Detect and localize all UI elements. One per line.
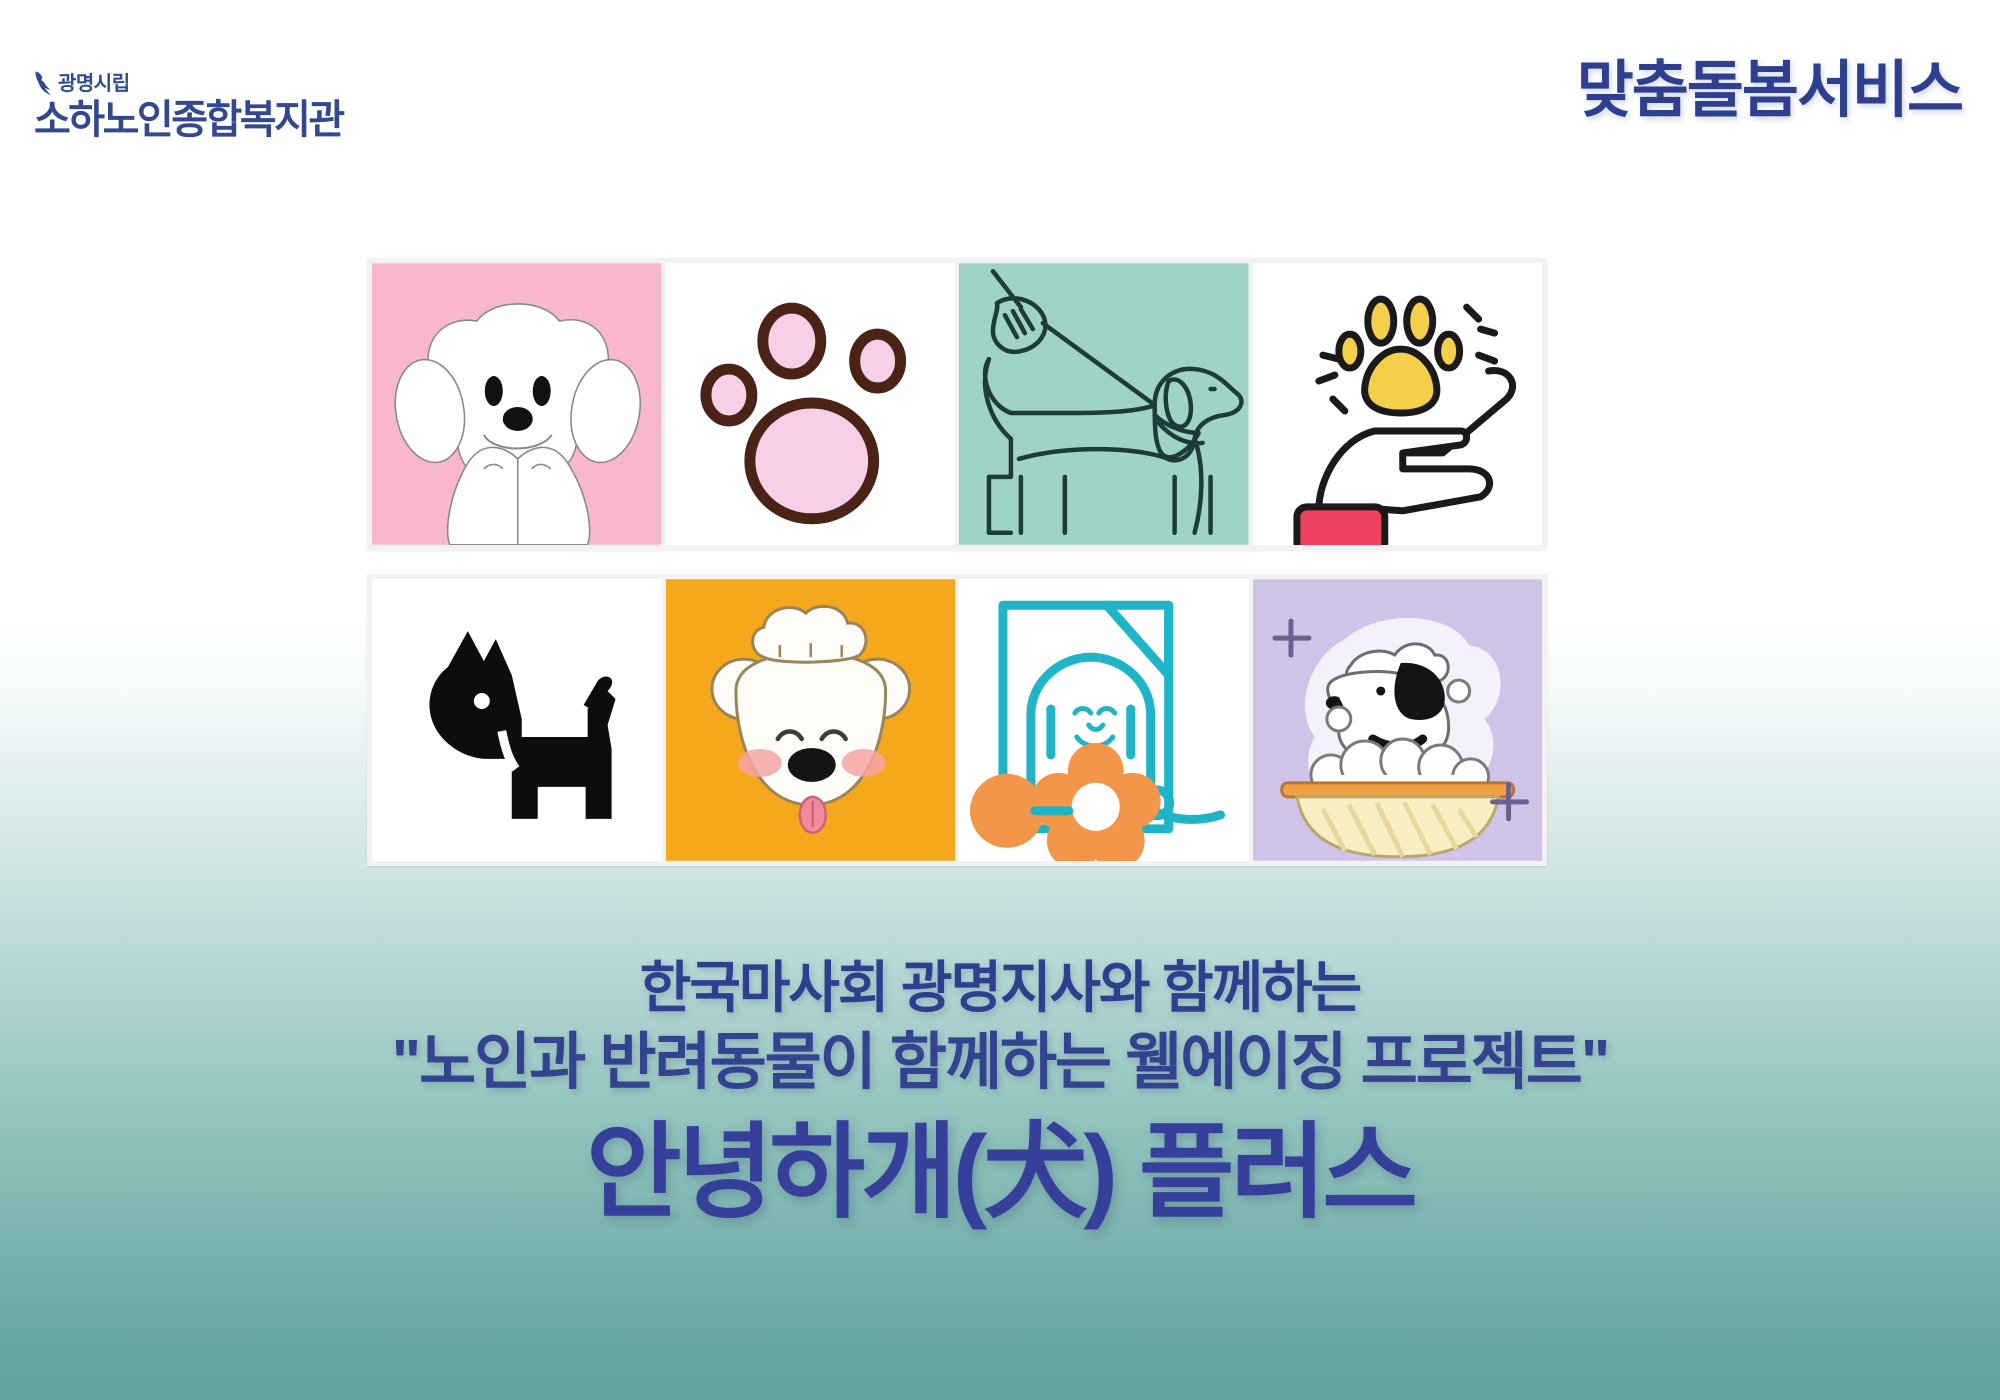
tile-white-puppy	[372, 263, 662, 545]
logo-center-name: 소하노인종합복지관	[34, 98, 343, 142]
headline-line-2: "노인과 반려동물이 함께하는 웰에이징 프로젝트"	[0, 1025, 2000, 1101]
service-tag-label: 맞춤돌봄서비스	[1577, 60, 1962, 122]
gwangmyeong-city-leaf-icon	[34, 70, 53, 96]
logo-top-row: 광명시립	[34, 70, 343, 96]
poster-canvas: 광명시립 소하노인종합복지관 맞춤돌봄서비스	[0, 0, 2000, 1400]
headline-line-3: 안녕하개(犬) 플러스	[0, 1111, 2000, 1236]
headline-line-1: 한국마사회 광명지사와 함께하는	[0, 955, 2000, 1021]
tile-dog-bath	[1253, 579, 1543, 861]
tile-dog-play	[959, 579, 1249, 861]
image-gallery	[367, 258, 1547, 866]
poster-header: 광명시립 소하노인종합복지관 맞춤돌봄서비스	[0, 0, 2000, 190]
logo-city-label: 광명시립	[58, 74, 130, 96]
gallery-row-1	[367, 258, 1547, 550]
gallery-row-2	[367, 574, 1547, 866]
tile-black-dog	[372, 579, 662, 861]
organization-logo: 광명시립 소하노인종합복지관	[34, 70, 343, 142]
tile-hand-paw	[1253, 263, 1543, 545]
headline-block: 한국마사회 광명지사와 함께하는 "노인과 반려동물이 함께하는 웰에이징 프로…	[0, 955, 2000, 1236]
tile-chef-dog	[666, 579, 956, 861]
tile-dog-walking	[959, 263, 1249, 545]
tile-paw-print	[666, 263, 956, 545]
